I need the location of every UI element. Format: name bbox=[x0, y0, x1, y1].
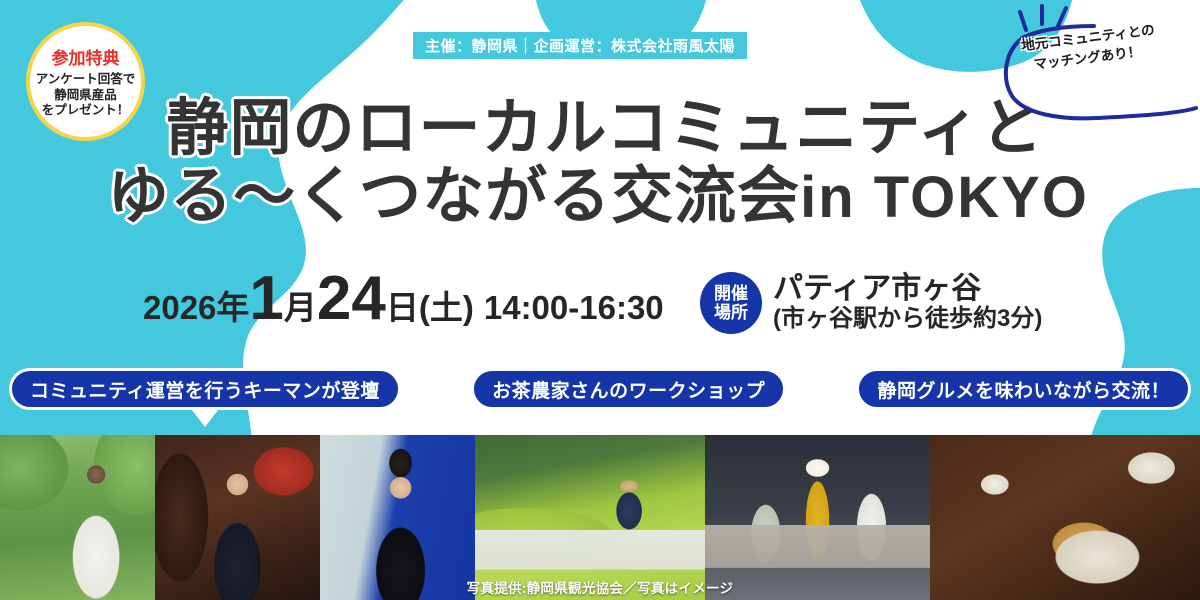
photo-strip bbox=[0, 435, 1200, 600]
sponsor-band: 主催：静岡県｜企画運営：株式会社雨風太陽 bbox=[413, 32, 747, 59]
venue-badge-line-1: 開催 bbox=[714, 284, 748, 303]
pill-tail-icon bbox=[1011, 410, 1037, 427]
venue-text: パティア市ヶ谷 (市ヶ谷駅から徒歩約3分) bbox=[773, 273, 1042, 332]
benefit-badge-line-2: 静岡県産品 bbox=[54, 88, 117, 104]
date-day-number: 24 bbox=[317, 268, 386, 330]
feature-pill-1[interactable]: コミュニティ運営を行うキーマンが登壇 bbox=[9, 368, 401, 412]
sponsor-text: 主催：静岡県｜企画運営：株式会社雨風太陽 bbox=[425, 35, 735, 56]
event-banner: 主催：静岡県｜企画運営：株式会社雨風太陽 参加特典 アンケート回答で 静岡県産品… bbox=[0, 0, 1200, 600]
feature-pill-2[interactable]: お茶農家さんのワークショップ bbox=[471, 368, 786, 412]
date-day-unit: 日(土) bbox=[386, 281, 474, 329]
date-month-unit: 月 bbox=[284, 281, 317, 329]
benefit-badge-line-3: をプレゼント！ bbox=[42, 103, 130, 119]
feature-pill-list: コミュニティ運営を行うキーマンが登壇 お茶農家さんのワークショップ 静岡グルメを… bbox=[0, 368, 1200, 412]
photo-4 bbox=[475, 435, 705, 600]
event-time: 14:00-16:30 bbox=[484, 289, 664, 327]
photo-2 bbox=[155, 435, 320, 600]
photo-6 bbox=[930, 435, 1200, 600]
benefit-badge: 参加特典 アンケート回答で 静岡県産品 をプレゼント！ bbox=[26, 22, 145, 141]
photo-1 bbox=[0, 435, 155, 600]
pill-tail-icon bbox=[616, 410, 642, 427]
feature-pill-3[interactable]: 静岡グルメを味わいながら交流！ bbox=[856, 368, 1191, 412]
venue-badge-line-2: 場所 bbox=[714, 303, 748, 322]
headline-line-2-en: in TOKYO bbox=[800, 165, 1089, 230]
venue-access: (市ヶ谷駅から徒歩約3分) bbox=[773, 306, 1042, 333]
photo-credit: 写真提供:静岡県観光協会／写真はイメージ bbox=[0, 577, 1200, 597]
feature-pill-3-label: 静岡グルメを味わいながら交流！ bbox=[877, 376, 1170, 403]
venue-badge: 開催 場所 bbox=[700, 272, 762, 334]
feature-pill-1-label: コミュニティ運営を行うキーマンが登壇 bbox=[30, 376, 380, 403]
headline-line-2-jp: ゆる〜くつながる交流会 bbox=[107, 162, 800, 231]
event-venue: 開催 場所 パティア市ヶ谷 (市ヶ谷駅から徒歩約3分) bbox=[700, 266, 1042, 340]
venue-name: パティア市ヶ谷 bbox=[773, 273, 1042, 305]
date-month-number: 1 bbox=[249, 268, 283, 330]
headline-line-2: ゆる〜くつながる交流会in TOKYO bbox=[0, 162, 1200, 231]
benefit-badge-line-1: アンケート回答で bbox=[36, 72, 136, 88]
feature-pill-2-label: お茶農家さんのワークショップ bbox=[492, 376, 765, 403]
event-date: 2026年 1 月 24 日(土) 14:00-16:30 bbox=[143, 268, 664, 338]
event-info-row: 2026年 1 月 24 日(土) 14:00-16:30 開催 場所 パティア… bbox=[0, 268, 1200, 338]
benefit-badge-title: 参加特典 bbox=[52, 44, 120, 69]
photo-5 bbox=[705, 435, 930, 600]
date-year: 2026年 bbox=[143, 281, 249, 329]
photo-3 bbox=[320, 435, 475, 600]
handwritten-bubble: 地元コミュニティとの マッチングあり！ bbox=[990, 0, 1200, 126]
pill-tail-icon bbox=[192, 410, 218, 427]
